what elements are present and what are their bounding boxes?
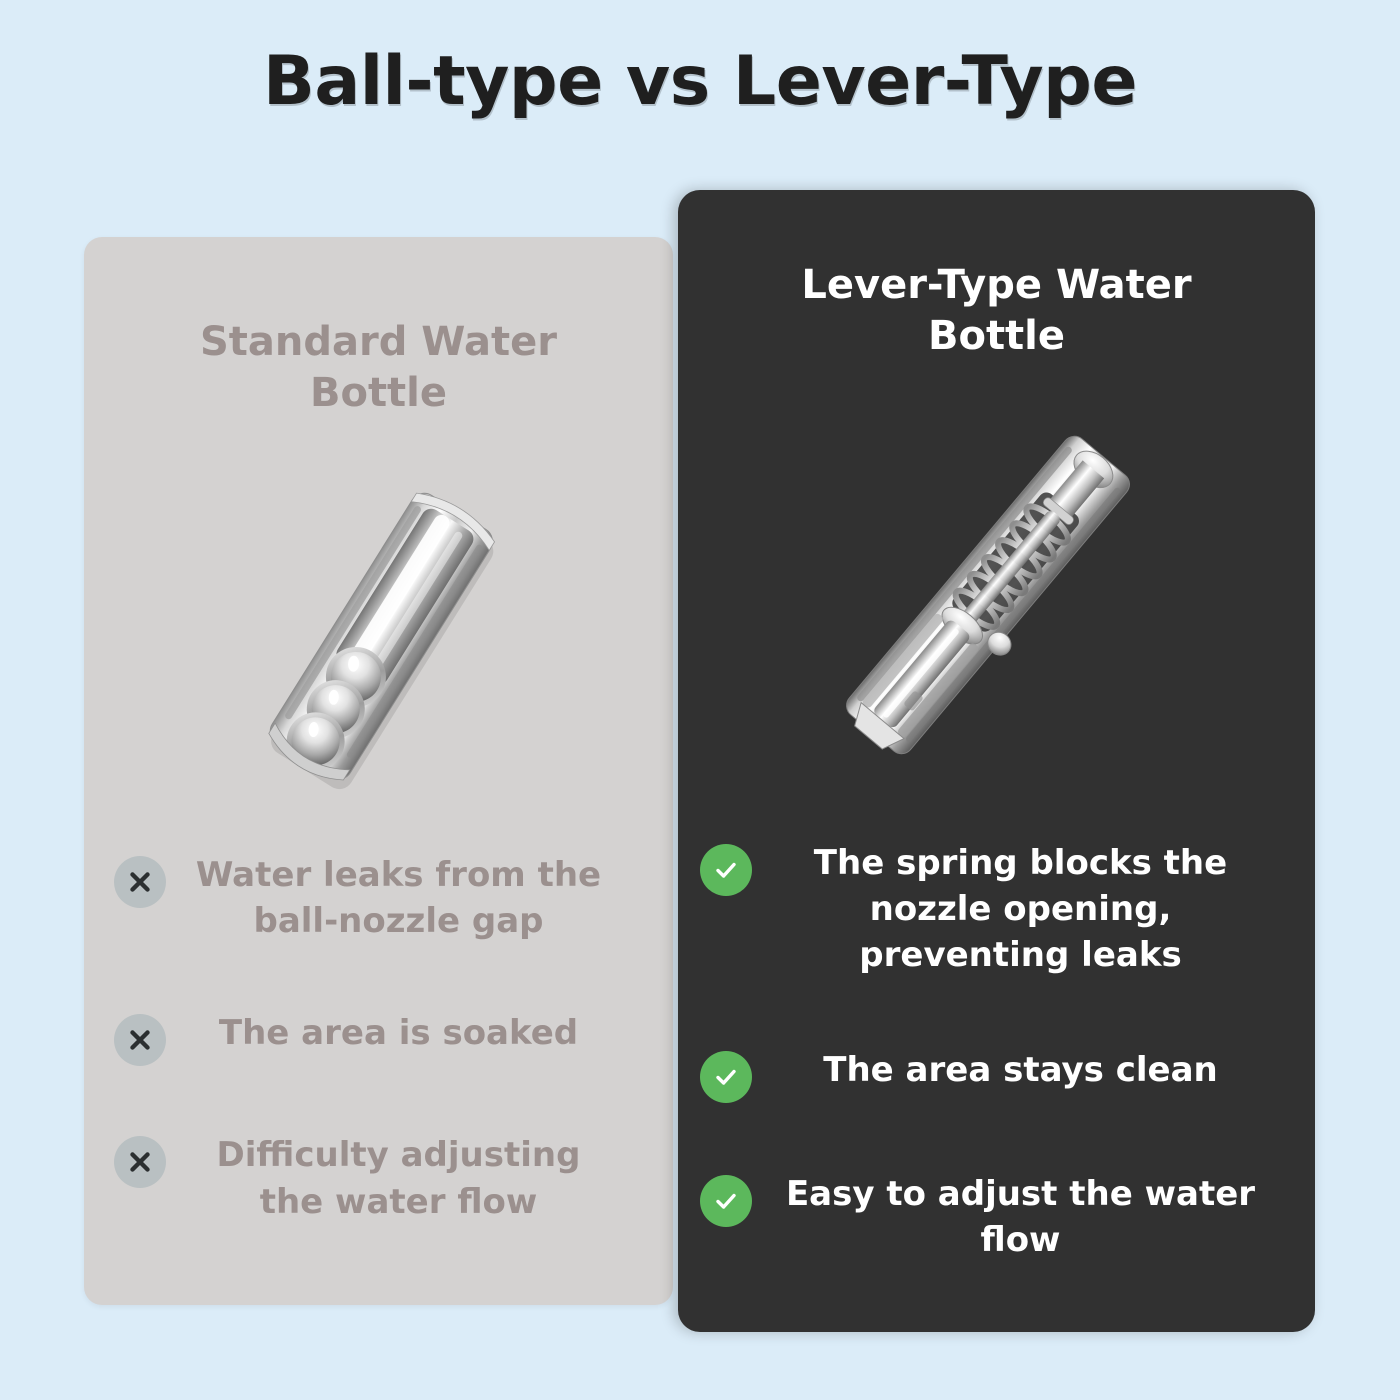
feature-row: Difficulty adjusting the water flow	[114, 1132, 643, 1224]
cross-icon	[114, 856, 166, 908]
cross-icon	[114, 1136, 166, 1188]
standard-bottle-card-title: Standard Water Bottle	[84, 317, 673, 419]
lever-type-bottle-card-title: Lever-Type Water Bottle	[678, 260, 1315, 362]
standard-bottle-card: Standard Water Bottle	[84, 237, 673, 1305]
cross-icon	[114, 1014, 166, 1066]
feature-label: Water leaks from the ball-nozzle gap	[188, 852, 643, 944]
feature-label: Difficulty adjusting the water flow	[188, 1132, 643, 1224]
lever-type-bottle-feature-list: The spring blocks the nozzle opening, pr…	[678, 840, 1315, 1263]
page-title: Ball-type vs Lever-Type	[0, 42, 1400, 121]
feature-row: The area is soaked	[114, 1010, 643, 1066]
ball-type-nozzle-image	[234, 467, 534, 797]
check-icon	[700, 1175, 752, 1227]
feature-row: The spring blocks the nozzle opening, pr…	[700, 840, 1293, 979]
feature-row: Easy to adjust the water flow	[700, 1171, 1293, 1263]
check-icon	[700, 844, 752, 896]
feature-label: The spring blocks the nozzle opening, pr…	[774, 840, 1293, 979]
feature-row: Water leaks from the ball-nozzle gap	[114, 852, 643, 944]
infographic-stage: Ball-type vs Lever-Type Standard Water B…	[0, 0, 1400, 1400]
feature-label: The area stays clean	[774, 1047, 1293, 1093]
check-icon	[700, 1051, 752, 1103]
feature-label: The area is soaked	[188, 1010, 643, 1056]
standard-bottle-feature-list: Water leaks from the ball-nozzle gap The…	[84, 852, 673, 1225]
feature-label: Easy to adjust the water flow	[774, 1171, 1293, 1263]
lever-type-nozzle-image	[788, 385, 1188, 805]
feature-row: The area stays clean	[700, 1047, 1293, 1103]
lever-type-bottle-card: Lever-Type Water Bottle	[678, 190, 1315, 1332]
